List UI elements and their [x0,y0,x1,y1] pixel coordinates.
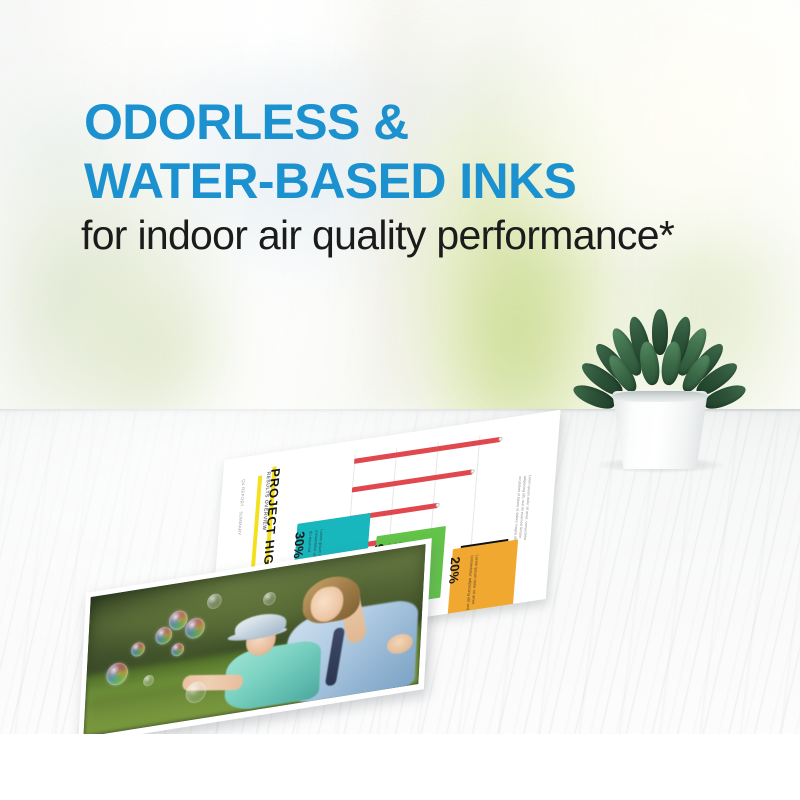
brochure-meta: Q4 REPORT · SUMMARY [237,479,246,536]
headline-line-1: ODORLESS & [84,93,774,152]
headline-line-2: WATER-BASED INKS [84,152,774,211]
chart-bar [352,469,473,492]
brochure-body-text: Lorem ipsum dolor sit amet, consectetur … [512,475,532,549]
stat-blurb: Lorem ipsum dolor sit amet consectetur a… [464,554,479,615]
plant-leaf [652,309,668,355]
footnote-band: * Up to A3+ page size HP printing system… [0,734,800,800]
stat-percent: 20% [446,556,463,585]
chart-bar-endpoint [471,469,475,474]
headline-block: ODORLESS & WATER-BASED INKS [84,93,774,211]
chart-bar-endpoint [498,437,502,442]
plant-pot-rim [612,391,708,402]
subheadline: for indoor air quality performance* [81,211,674,259]
poster-canvas: ODORLESS & WATER-BASED INKS for indoor a… [0,0,800,800]
plant-pot [612,391,708,469]
chart-bar-endpoint [436,503,440,508]
stat-percent: 30% [291,530,308,559]
potted-plant [590,305,740,470]
